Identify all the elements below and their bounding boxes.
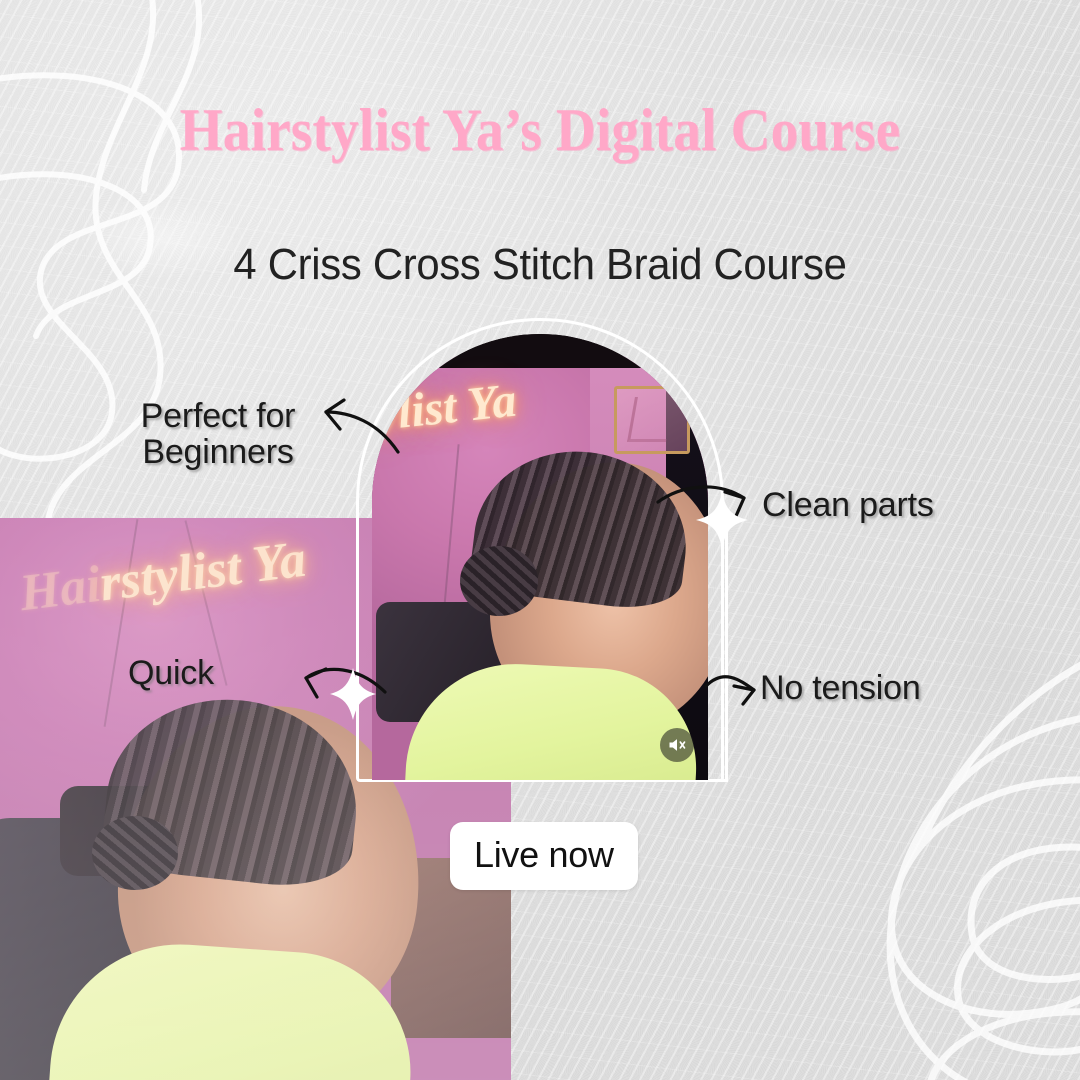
page-subtitle: 4 Criss Cross Stitch Braid Course — [27, 240, 1053, 290]
annotation-beginners: Perfect for Beginners — [88, 398, 348, 471]
annotation-no-tension: No tension — [760, 670, 921, 706]
arch-hair-bun — [460, 546, 538, 616]
arch-photo-image: ylist Ya — [372, 334, 708, 780]
wall-art-frame — [614, 386, 690, 454]
annotation-clean-parts: Clean parts — [762, 487, 934, 523]
page-title: Hairstylist Ya’s Digital Course — [43, 96, 1037, 165]
arrow-clean-parts-head — [725, 492, 744, 516]
muted-speaker-icon[interactable] — [660, 728, 694, 762]
arch-photo[interactable]: ylist Ya — [356, 318, 724, 782]
poster-canvas: Hairstylist Ya’s Digital Course 4 Criss … — [0, 0, 1080, 1080]
arch-photo-topbar — [372, 334, 708, 368]
live-now-badge[interactable]: Live now — [450, 822, 638, 890]
annotation-quick: Quick — [128, 655, 214, 691]
arrow-no-tension-head — [734, 686, 754, 704]
